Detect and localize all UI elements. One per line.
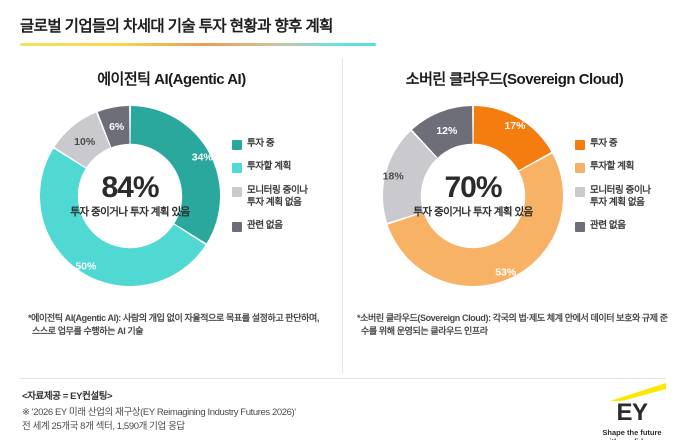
footnote-left: *에이전틱 AI(Agentic AI): 사람의 개입 없이 자율적으로 목표… bbox=[28, 312, 328, 338]
legend-swatch-icon bbox=[232, 163, 242, 173]
legend-item-label: 투자할 계획 bbox=[247, 161, 291, 173]
legend-item-label: 모니터링 중이나 투자 계획 없음 bbox=[247, 185, 308, 210]
legend-item-label: 모니터링 중이나 투자 계획 없음 bbox=[590, 185, 651, 210]
slice-value-label: 34% bbox=[192, 151, 214, 163]
ey-wordmark: EY bbox=[592, 401, 672, 425]
ey-logo: EY Shape the future with confidence bbox=[592, 382, 672, 440]
slice-value-label: 18% bbox=[383, 170, 405, 182]
legend-right: 투자 중 투자할 계획 모니터링 중이나 투자 계획 없음 관련 없음 bbox=[575, 138, 683, 233]
infographic-page: 글로벌 기업들의 차세대 기술 투자 현황과 향후 계획 에이전틱 AI(Age… bbox=[0, 0, 686, 440]
source-title: <자료제공 = EY컨설팅> bbox=[22, 388, 422, 402]
ey-tagline: Shape the future with confidence bbox=[592, 428, 672, 440]
legend-swatch-icon bbox=[575, 140, 585, 150]
title-gradient-rule bbox=[20, 43, 376, 46]
donut-slice[interactable] bbox=[131, 106, 220, 243]
legend-item[interactable]: 투자할 계획 bbox=[232, 161, 340, 173]
footer-divider bbox=[20, 378, 666, 379]
panel-sovereign-cloud: 소버린 클라우드(Sovereign Cloud) 17%53%18%12% 7… bbox=[343, 60, 686, 375]
legend-swatch-icon bbox=[232, 222, 242, 232]
legend-item-label: 투자할 계획 bbox=[590, 161, 634, 173]
legend-left: 투자 중 투자할 계획 모니터링 중이나 투자 계획 없음 관련 없음 bbox=[232, 138, 340, 233]
legend-swatch-icon bbox=[232, 140, 242, 150]
page-title: 글로벌 기업들의 차세대 기술 투자 현황과 향후 계획 bbox=[20, 14, 666, 36]
legend-item-label: 관련 없음 bbox=[247, 220, 283, 232]
legend-item[interactable]: 모니터링 중이나 투자 계획 없음 bbox=[232, 185, 340, 210]
slice-value-label: 6% bbox=[109, 121, 125, 133]
donut-svg-left: 34%50%10%6% bbox=[36, 102, 224, 290]
legend-item-label: 투자 중 bbox=[590, 138, 617, 150]
legend-swatch-icon bbox=[575, 187, 585, 197]
header: 글로벌 기업들의 차세대 기술 투자 현황과 향후 계획 bbox=[20, 14, 666, 46]
legend-item[interactable]: 관련 없음 bbox=[575, 220, 683, 232]
source-line: ※ '2026 EY 미래 산업의 재구상(EY Reimagining Ind… bbox=[22, 406, 422, 420]
donut-svg-right: 17%53%18%12% bbox=[379, 102, 567, 290]
legend-item[interactable]: 투자 중 bbox=[232, 138, 340, 150]
source-block: <자료제공 = EY컨설팅> ※ '2026 EY 미래 산업의 재구상(EY … bbox=[22, 388, 422, 434]
legend-item[interactable]: 관련 없음 bbox=[232, 220, 340, 232]
legend-item[interactable]: 투자 중 bbox=[575, 138, 683, 150]
slice-value-label: 53% bbox=[495, 267, 517, 279]
panel-agentic-ai: 에이전틱 AI(Agentic AI) 34%50%10%6% 84% 투자 중… bbox=[0, 60, 343, 375]
source-line: 전 세계 25개국 8개 섹터, 1,590개 기업 응답 bbox=[22, 420, 422, 434]
slice-value-label: 50% bbox=[75, 261, 97, 273]
slice-value-label: 12% bbox=[436, 125, 458, 137]
legend-item[interactable]: 모니터링 중이나 투자 계획 없음 bbox=[575, 185, 683, 210]
slice-value-label: 17% bbox=[504, 120, 526, 132]
chart-title-right: 소버린 클라우드(Sovereign Cloud) bbox=[343, 68, 686, 89]
footnote-right: *소버린 클라우드(Sovereign Cloud): 각국의 법·제도 체계 … bbox=[357, 312, 672, 338]
legend-swatch-icon bbox=[575, 163, 585, 173]
legend-item[interactable]: 투자할 계획 bbox=[575, 161, 683, 173]
chart-title-left: 에이전틱 AI(Agentic AI) bbox=[0, 68, 343, 89]
donut-chart-right: 17%53%18%12% 70% 투자 중이거나 투자 계획 있음 bbox=[379, 102, 567, 290]
donut-chart-left: 34%50%10%6% 84% 투자 중이거나 투자 계획 있음 bbox=[36, 102, 224, 290]
legend-item-label: 관련 없음 bbox=[590, 220, 626, 232]
slice-value-label: 10% bbox=[74, 136, 96, 148]
legend-swatch-icon bbox=[232, 187, 242, 197]
legend-swatch-icon bbox=[575, 222, 585, 232]
legend-item-label: 투자 중 bbox=[247, 138, 274, 150]
